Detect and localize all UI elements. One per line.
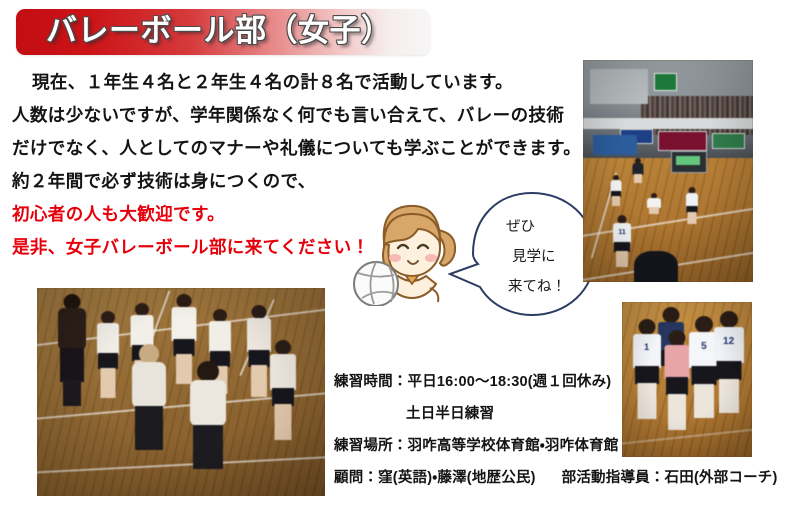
- weekend-practice-line: 土日半日練習: [334, 398, 734, 430]
- club-info-block: 練習時間：平日16:00～18:30(週１回休み) 土日半日練習 練習場所：羽咋…: [334, 366, 734, 494]
- coach-text: 部活動指導員：石田(外部コーチ): [562, 470, 778, 486]
- intro-line-3: だけでなく、人としてのマナーや礼儀についても学ぶことができます。: [12, 132, 572, 165]
- speech-bubble: ぜひ 見学に 来てね！: [448, 190, 604, 318]
- page-title: バレーボール部（女子）: [46, 9, 446, 55]
- intro-line-2: 人数は少ないですが、学年関係なく何でも言い合えて、バレーの技術: [12, 99, 572, 132]
- practice-place-line: 練習場所：羽咋高等学校体育館・羽咋体育館: [334, 430, 734, 462]
- practice-time-line: 練習時間：平日16:00～18:30(週１回休み): [334, 366, 734, 398]
- staff-line: 顧問：窪(英語)・藤澤(地歴公民)部活動指導員：石田(外部コーチ): [334, 462, 734, 494]
- photo-team-huddle-floor: [37, 288, 325, 496]
- advisors-text: 顧問：窪(英語)・藤澤(地歴公民): [334, 470, 536, 486]
- intro-line-1: 現在、１年生４名と２年生４名の計８名で活動しています。: [12, 66, 572, 99]
- photo-match-play: 11: [583, 60, 753, 282]
